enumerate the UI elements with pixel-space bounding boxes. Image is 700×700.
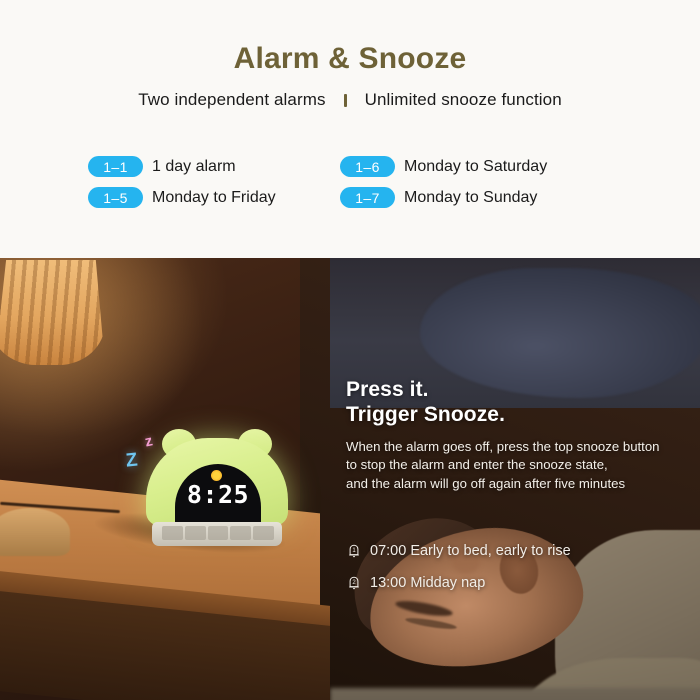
overlay-body-line1: When the alarm goes off, press the top s… — [346, 438, 696, 457]
badge-item: 1–1 1 day alarm — [88, 156, 340, 177]
device-button[interactable] — [253, 526, 274, 540]
badge-code: 1–7 — [340, 187, 395, 208]
alarm-clock-device: 8:25 — [146, 438, 288, 548]
subtitle-right: Unlimited snooze function — [365, 90, 562, 110]
badge-item: 1–6 Monday to Saturday — [340, 156, 547, 177]
alarm-entry-text: 07:00 Early to bed, early to rise — [370, 543, 571, 559]
header-panel: Alarm & Snooze Two independent alarms Un… — [0, 0, 700, 258]
alarm-bell-1-icon: 1 — [346, 543, 362, 559]
overlay-body: When the alarm goes off, press the top s… — [346, 438, 696, 494]
overlay-headline-line2: Trigger Snooze. — [346, 403, 696, 428]
product-feature-page: Alarm & Snooze Two independent alarms Un… — [0, 0, 700, 700]
device-button[interactable] — [162, 526, 183, 540]
svg-text:1: 1 — [352, 548, 356, 554]
badge-code: 1–1 — [88, 156, 143, 177]
alarm-entry-text: 13:00 Midday nap — [370, 575, 485, 591]
badge-label: Monday to Saturday — [404, 158, 547, 176]
list-item: 2 13:00 Midday nap — [346, 575, 696, 591]
badge-item: 1–7 Monday to Sunday — [340, 187, 547, 208]
subtitle-row: Two independent alarms Unlimited snooze … — [0, 90, 700, 110]
badge-item: 1–5 Monday to Friday — [88, 187, 340, 208]
badge-code: 1–6 — [340, 156, 395, 177]
lamp-base-decor — [0, 508, 70, 556]
device-button[interactable] — [185, 526, 206, 540]
sleep-symbol-large-icon: Z — [125, 449, 139, 472]
alarm-bell-2-icon: 2 — [346, 575, 362, 591]
list-item: 1 07:00 Early to bed, early to rise — [346, 543, 696, 559]
badge-code: 1–5 — [88, 187, 143, 208]
overlay-body-line3: and the alarm will go off again after fi… — [346, 475, 696, 494]
table-lamp-icon — [0, 260, 105, 365]
overlay-body-line2: to stop the alarm and enter the snooze s… — [346, 456, 696, 475]
lifestyle-photo: 8:25 z Z Press it. Trigger Snooze. — [0, 258, 700, 700]
device-button[interactable] — [230, 526, 251, 540]
badge-label: Monday to Friday — [152, 189, 276, 207]
clock-display-time: 8:25 — [175, 482, 261, 507]
badge-label: 1 day alarm — [152, 158, 236, 176]
alarm-schedule-list: 1 07:00 Early to bed, early to rise 2 13… — [346, 543, 696, 607]
bed-sheet-decor — [330, 688, 700, 700]
overlay-headline-line1: Press it. — [346, 378, 696, 403]
overlay-headline: Press it. Trigger Snooze. — [346, 378, 696, 428]
vertical-divider-icon — [344, 94, 347, 107]
device-button-row[interactable] — [162, 526, 274, 540]
badge-label: Monday to Sunday — [404, 189, 537, 207]
alarm-mode-badge-grid: 1–1 1 day alarm 1–6 Monday to Saturday 1… — [88, 156, 547, 208]
subtitle-left: Two independent alarms — [138, 90, 325, 110]
page-title: Alarm & Snooze — [0, 42, 700, 76]
svg-text:2: 2 — [352, 580, 356, 586]
overlay-copy: Press it. Trigger Snooze. When the alarm… — [346, 378, 696, 494]
clock-display-screen: 8:25 — [175, 464, 261, 526]
device-button[interactable] — [208, 526, 229, 540]
